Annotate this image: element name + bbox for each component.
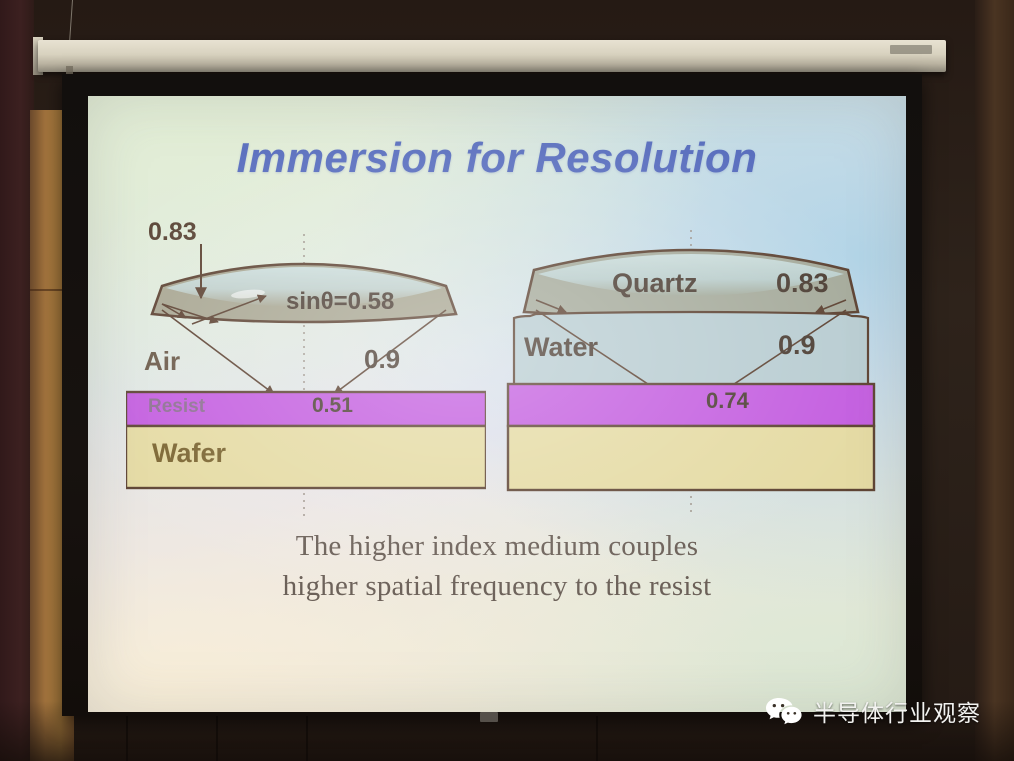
wall-right-edge: [975, 0, 1014, 761]
resist-layer: [508, 384, 874, 426]
projected-slide: Immersion for Resolution: [88, 96, 906, 712]
room-photo: Immersion for Resolution: [0, 0, 1014, 761]
dry-substrate-label: Wafer: [152, 438, 226, 469]
immersion-medium-label: Water: [524, 332, 598, 363]
immersion-lens-label: Quartz: [612, 268, 698, 299]
dry-medium-index-value: 0.9: [364, 344, 400, 375]
wall-left-maroon-strip: [0, 0, 34, 761]
dry-sin-theta-label: sinθ=0.58: [286, 288, 394, 316]
screen-bottom-weight-tab: [480, 712, 498, 722]
watermark-text: 半导体行业观察: [813, 694, 981, 728]
immersion-resist-index-value: 0.74: [706, 388, 749, 414]
immersion-top-index-value: 0.83: [776, 268, 829, 299]
caption-line-1: The higher index medium couples: [88, 526, 906, 566]
roller-brand-label: [890, 45, 932, 54]
dry-resist-label: Resist: [148, 396, 205, 418]
diagram-dry-lithography: 0.83 sinθ=0.58 Air 0.9 Resist 0.51 Wafer: [126, 226, 486, 516]
wafer-layer: [508, 426, 874, 490]
slide-diagram-area: 0.83 sinθ=0.58 Air 0.9 Resist 0.51 Wafer: [88, 226, 906, 516]
slide-title: Immersion for Resolution: [88, 134, 906, 182]
immersion-medium-index-value: 0.9: [778, 330, 816, 361]
dry-medium-label: Air: [144, 346, 180, 377]
dry-top-index-value: 0.83: [148, 218, 197, 247]
wechat-icon: [764, 696, 804, 726]
diagram-immersion-lithography: Quartz 0.83 Water 0.9 0.74: [500, 226, 882, 516]
caption-line-2: higher spatial frequency to the resist: [88, 566, 906, 606]
watermark: 半导体行业观察: [764, 694, 981, 728]
dry-resist-index-value: 0.51: [312, 394, 353, 418]
screen-roller-bar[interactable]: [38, 40, 946, 72]
slide-caption: The higher index medium couples higher s…: [88, 526, 906, 606]
